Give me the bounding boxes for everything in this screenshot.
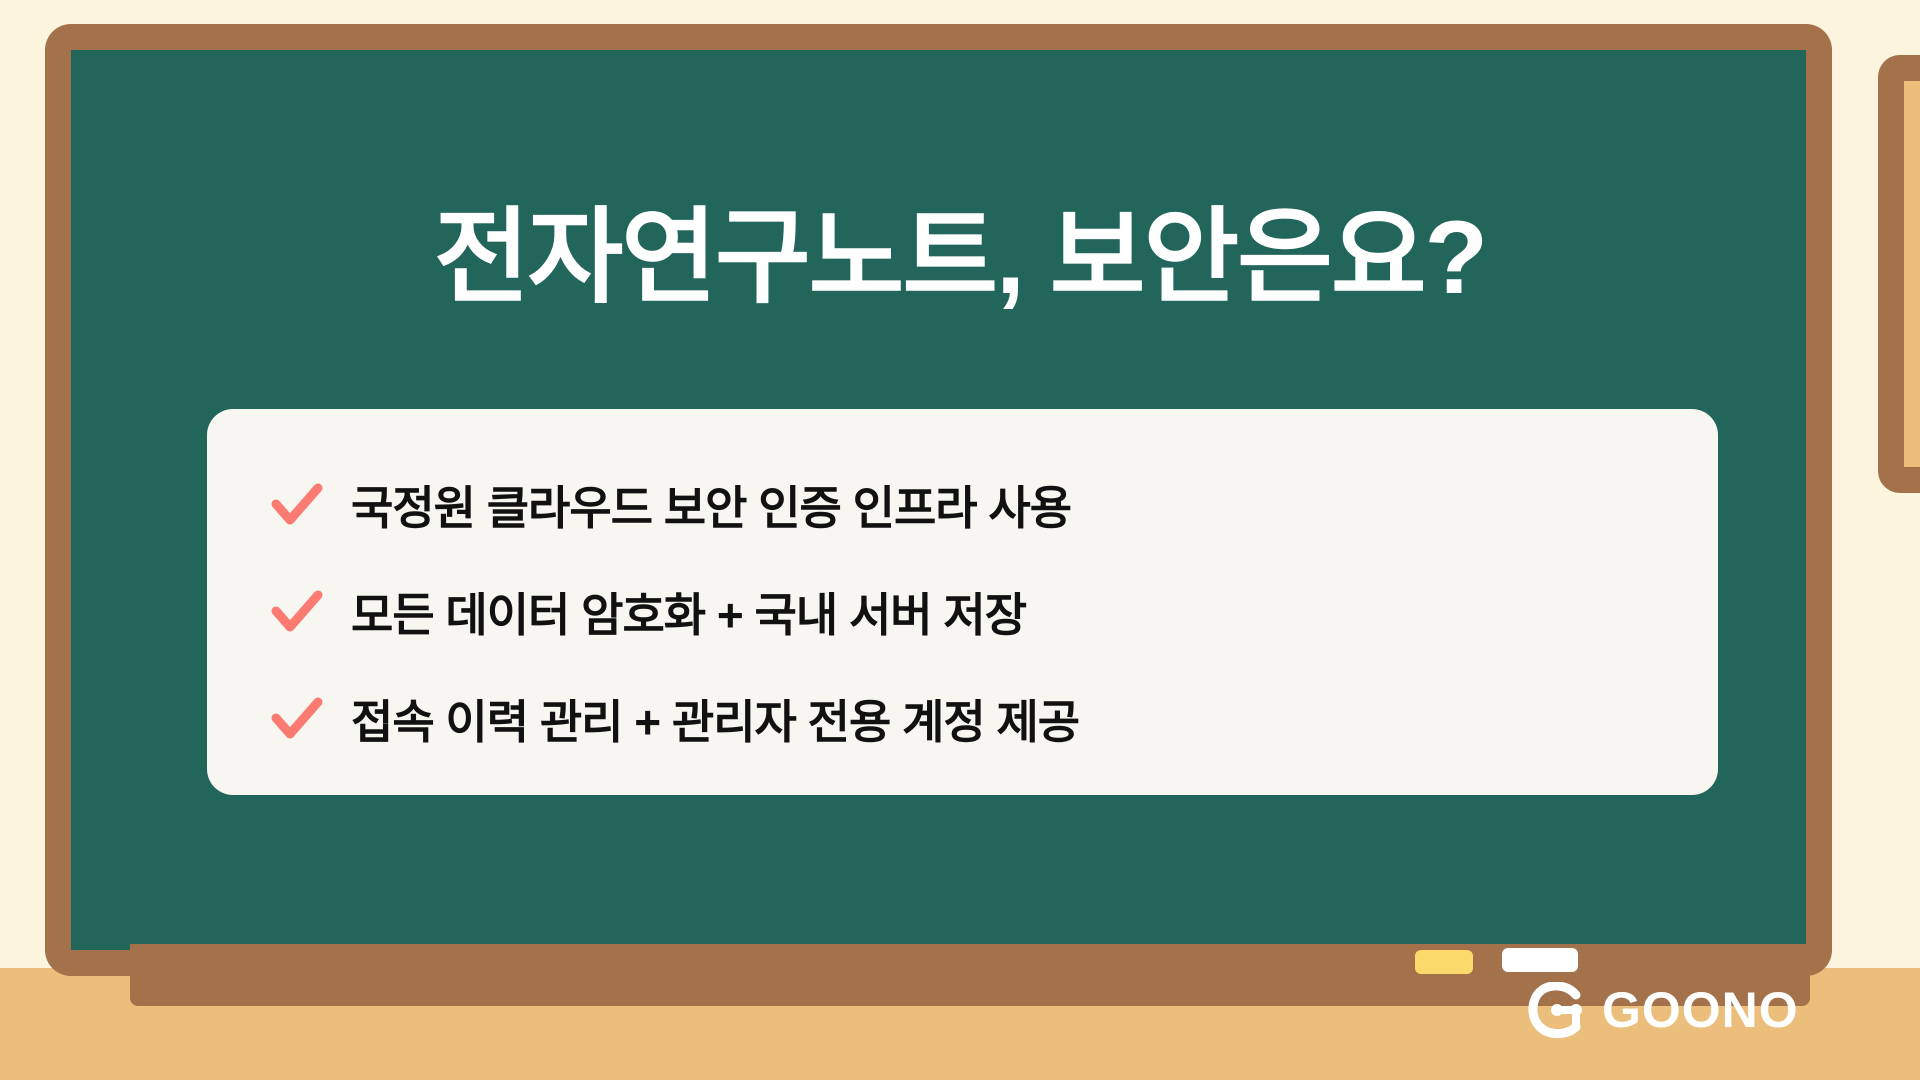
list-item: 국정원 클라우드 보안 인증 인프라 사용 xyxy=(269,451,1718,558)
chalk-stick-white-icon xyxy=(1502,948,1578,972)
check-icon xyxy=(269,477,325,533)
list-item-label: 모든 데이터 암호화 + 국내 서버 저장 xyxy=(351,579,1026,645)
page-title: 전자연구노트, 보안은요? xyxy=(0,200,1920,316)
brand-wordmark: GOONO xyxy=(1602,985,1799,1035)
goono-g-mark-icon xyxy=(1526,982,1588,1038)
list-item-label: 국정원 클라우드 보안 인증 인프라 사용 xyxy=(351,472,1071,538)
check-icon xyxy=(269,584,325,640)
list-item: 접속 이력 관리 + 관리자 전용 계정 제공 xyxy=(269,665,1718,772)
brand-logo: GOONO xyxy=(1526,982,1799,1038)
list-item: 모든 데이터 암호화 + 국내 서버 저장 xyxy=(269,558,1718,665)
chalk-stick-yellow-icon xyxy=(1415,950,1473,974)
list-item-label: 접속 이력 관리 + 관리자 전용 계정 제공 xyxy=(351,686,1079,752)
content-card: 국정원 클라우드 보안 인증 인프라 사용 모든 데이터 암호화 + 국내 서버… xyxy=(207,409,1718,795)
check-icon xyxy=(269,691,325,747)
feature-list: 국정원 클라우드 보안 인증 인프라 사용 모든 데이터 암호화 + 국내 서버… xyxy=(269,451,1718,772)
slide-stage: 전자연구노트, 보안은요? 국정원 클라우드 보안 인증 인프라 사용 모든 데… xyxy=(0,0,1920,1080)
